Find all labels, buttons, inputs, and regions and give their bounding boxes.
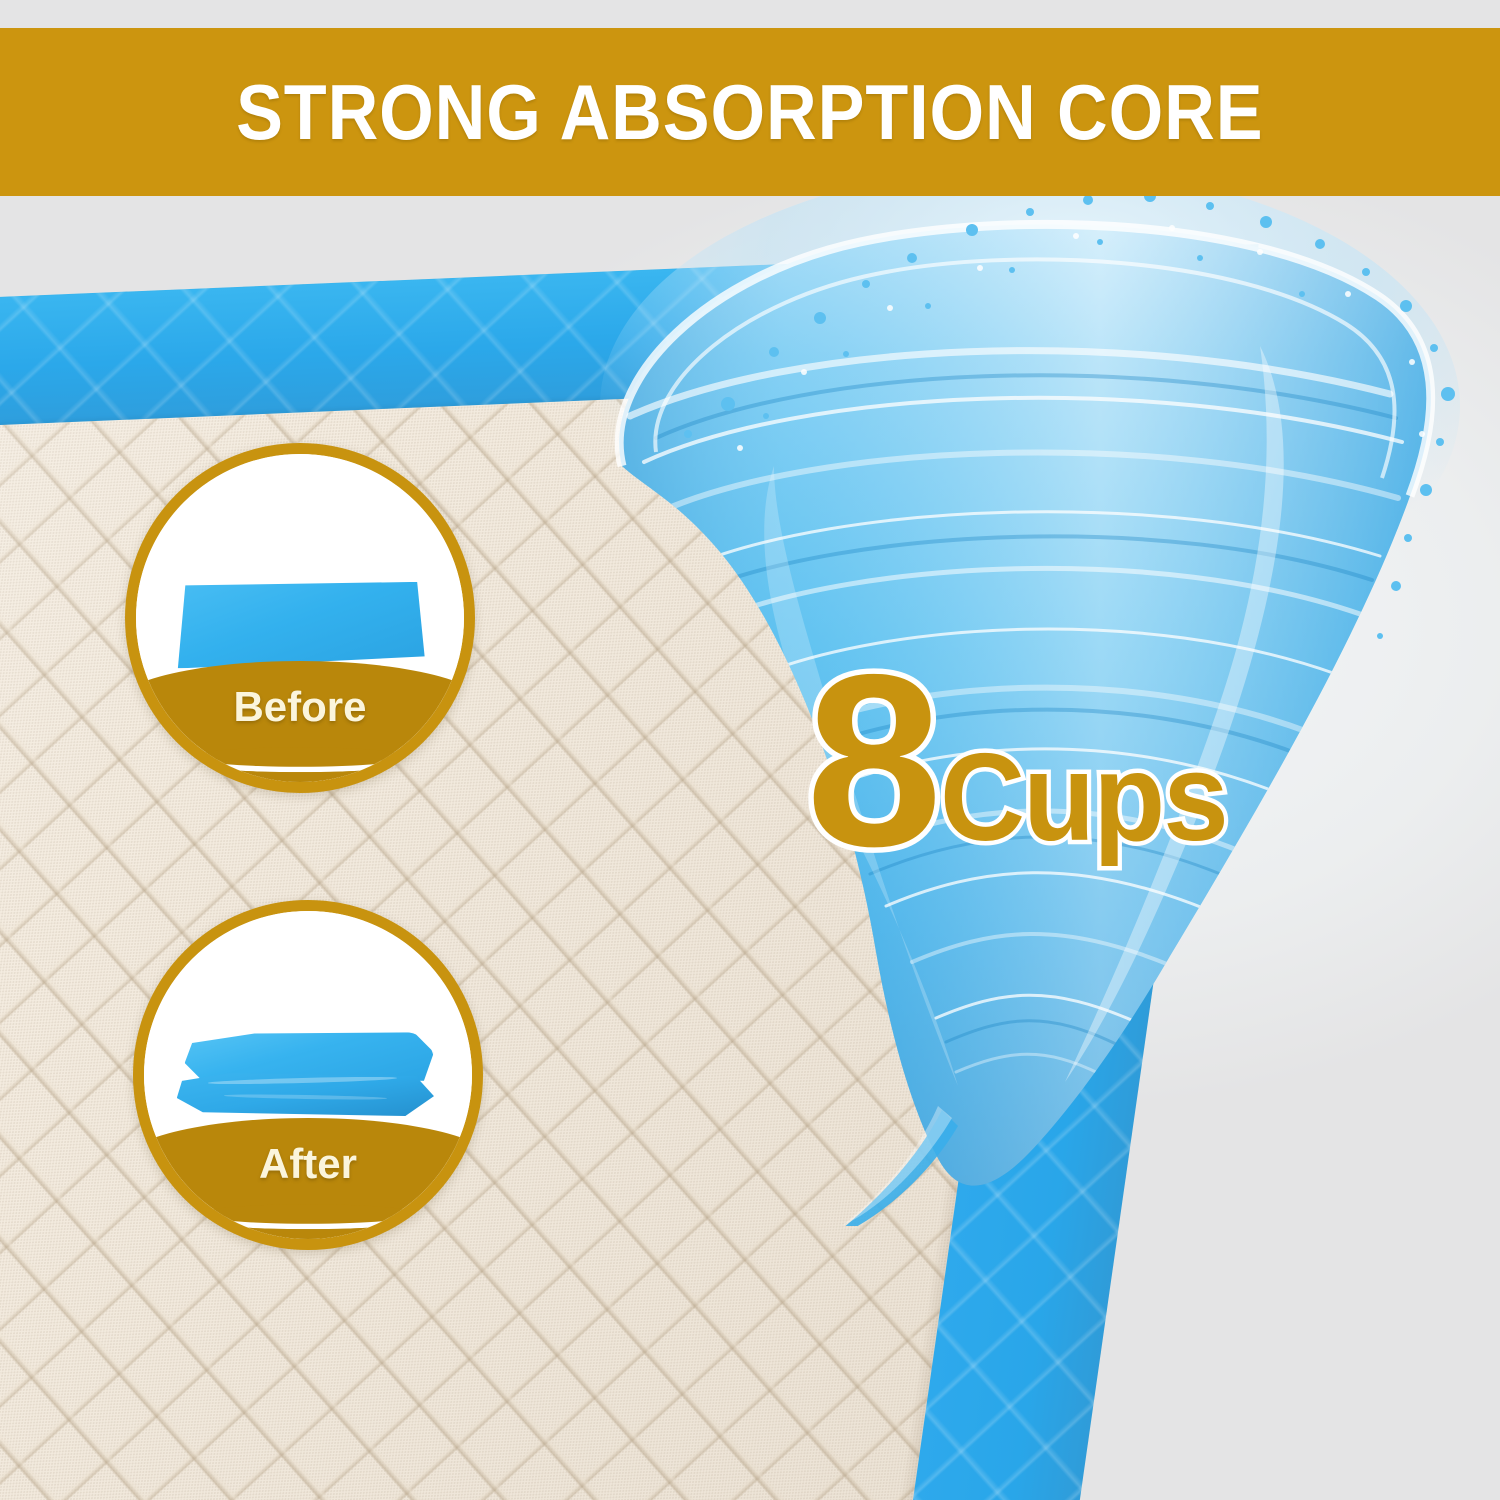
badge-after-arc-mask — [198, 1204, 419, 1224]
capacity-number: 8 — [806, 658, 936, 864]
badge-after[interactable]: After — [133, 900, 483, 1250]
page-title: STRONG ABSORPTION CORE — [236, 73, 1263, 151]
badge-after-label: After — [133, 1140, 483, 1188]
absorption-capacity-callout: 8 Cups — [806, 658, 1242, 864]
badge-before-band: Before — [125, 661, 475, 793]
capacity-unit: Cups — [940, 746, 1227, 850]
badge-after-band: After — [133, 1118, 483, 1250]
pad-folded-icon — [177, 1032, 439, 1127]
badge-before-label: Before — [125, 683, 475, 731]
product-feature-image: STRONG ABSORPTION CORE — [0, 0, 1500, 1500]
header-banner: STRONG ABSORPTION CORE — [0, 28, 1500, 196]
underpad — [0, 244, 1259, 1500]
top-margin-strip — [0, 0, 1500, 28]
product-scene: 8 Cups Before — [0, 196, 1500, 1500]
badge-before[interactable]: Before — [125, 443, 475, 793]
badge-before-arc-mask — [190, 747, 411, 767]
